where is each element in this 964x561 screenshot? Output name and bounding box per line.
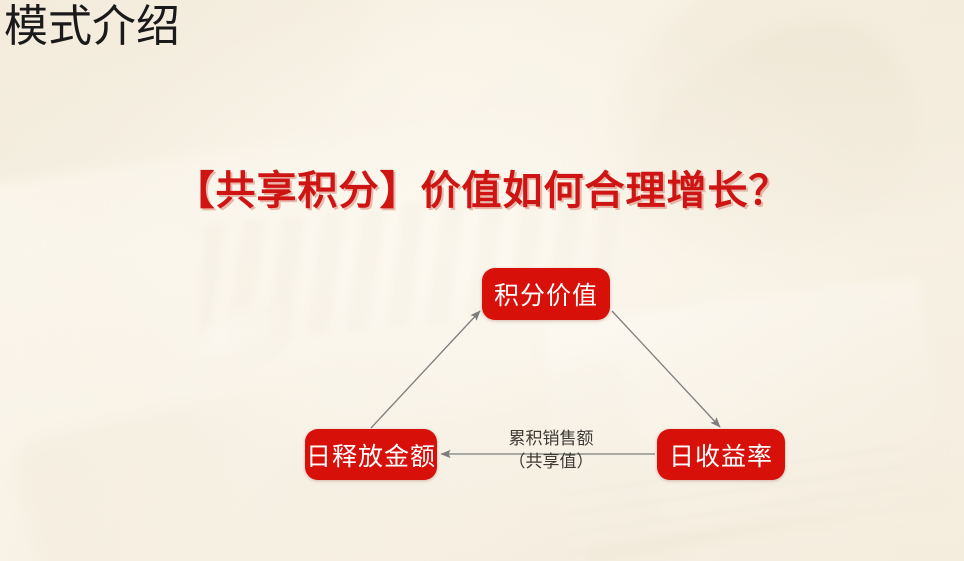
slide-canvas: 模式介绍 【共享积分】价值如何合理增长？ 积分价值 日释放金额 日收益率 累积销… bbox=[0, 0, 964, 561]
edge-label-line-2: （共享值） bbox=[466, 451, 636, 474]
edge-label-cumulative-sales: 累积销售额 （共享值） bbox=[466, 428, 636, 474]
cycle-diagram: 积分价值 日释放金额 日收益率 累积销售额 （共享值） bbox=[0, 0, 964, 561]
edge-daily-release-to-value bbox=[371, 311, 480, 428]
node-points-value[interactable]: 积分价值 bbox=[482, 268, 610, 320]
edge-value-to-daily-rate bbox=[612, 311, 720, 427]
node-daily-release-amount[interactable]: 日释放金额 bbox=[305, 429, 437, 480]
edge-label-line-1: 累积销售额 bbox=[466, 428, 636, 451]
node-daily-yield-rate[interactable]: 日收益率 bbox=[657, 429, 785, 480]
